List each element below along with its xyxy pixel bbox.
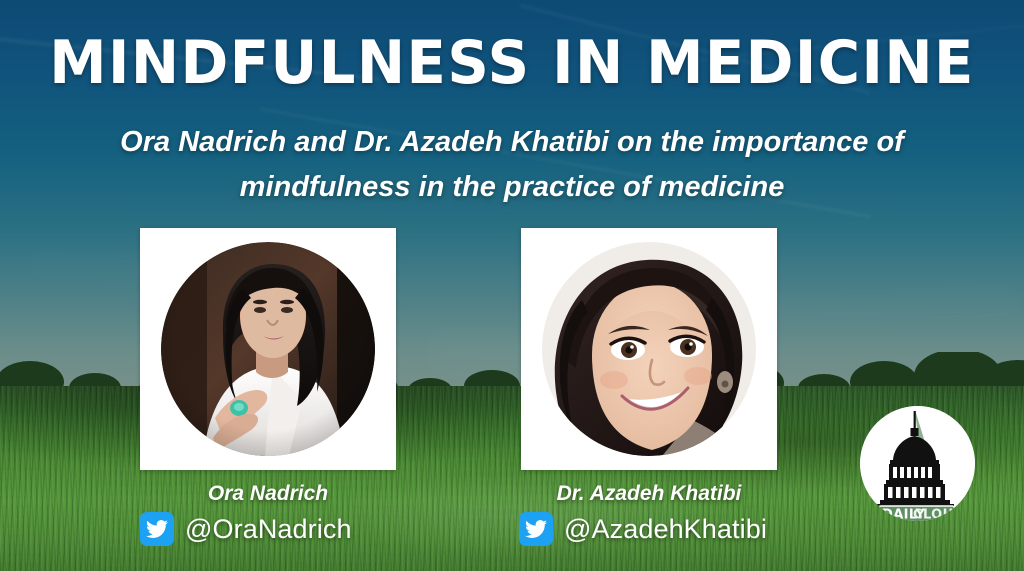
guest-name: Ora Nadrich [140,482,396,506]
promo-graphic: MINDFULNESS IN MEDICINE Ora Nadrich and … [0,0,1024,571]
twitter-bird-icon[interactable] [140,512,174,546]
twitter-handle-row[interactable]: @AzadehKhatibi [519,512,767,546]
twitter-bird-icon[interactable] [519,512,553,546]
twitter-handle-text[interactable]: @AzadehKhatibi [564,514,767,545]
subtitle: Ora Nadrich and Dr. Azadeh Khatibi on th… [42,120,982,210]
page-title: MINDFULNESS IN MEDICINE [20,32,1003,94]
twitter-handle-text[interactable]: @OraNadrich [185,514,352,545]
avatar [161,242,375,456]
subtitle-line-1: Ora Nadrich and Dr. Azadeh Khatibi on th… [42,120,982,165]
guest-photo-frame [521,228,777,470]
guest-name: Dr. Azadeh Khatibi [521,482,777,506]
guest-photo-frame [140,228,396,470]
avatar [542,242,756,456]
dailyclout-logo[interactable]: DAILY CLOUT [860,406,975,521]
twitter-handle-row[interactable]: @OraNadrich [140,512,352,546]
subtitle-line-2: mindfulness in the practice of medicine [42,165,982,210]
